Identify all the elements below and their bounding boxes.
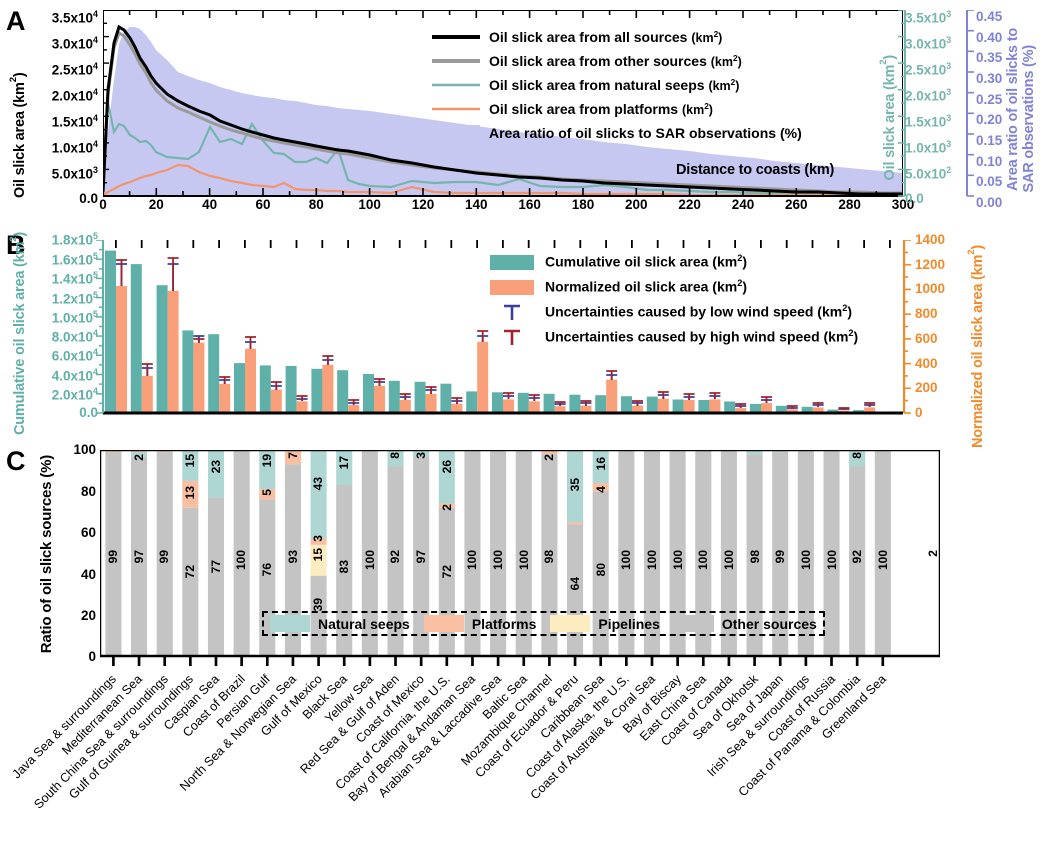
legend-item-cumulative[interactable]: Cumulative oil slick area (km2) <box>488 249 858 274</box>
category-label-14: Bay of Bengal & Andaman Sea <box>346 672 478 804</box>
category-label-1: Mediterranean Sea <box>59 672 145 758</box>
legend-item-high-wind[interactable]: Uncertainties caused by high wind speed … <box>488 324 858 349</box>
panel-c-bottom-ticks <box>100 656 940 668</box>
category-label-28: Coast of Russia <box>765 672 838 745</box>
legend-item-all-sources[interactable]: Oil slick area from all sources (km2) <box>430 25 802 49</box>
other-sources-swatch-icon <box>674 615 714 632</box>
category-label-10: Yellow Sea <box>322 672 376 726</box>
panel-a-right-axis-2 <box>966 10 976 200</box>
panel-a-xlabel: Distance to coasts (km) <box>676 162 834 178</box>
panel-b-right-axis <box>903 240 913 425</box>
category-label-17: Mozambique Channel <box>459 672 556 769</box>
legend-platforms-label[interactable]: Platforms <box>472 616 537 632</box>
panel-a-ylabel-left: Oil slick area (km2) <box>8 28 28 198</box>
legend-item-normalized[interactable]: Normalized oil slick area (km2) <box>488 274 858 299</box>
category-label-23: East China Sea <box>637 672 709 744</box>
legend-pipelines-label[interactable]: Pipelines <box>598 616 659 632</box>
panel-c-legend: Natural seeps Platforms Pipelines Other … <box>262 611 825 636</box>
category-label-9: Black Sea <box>300 672 350 722</box>
category-label-18: Coast of Ecuador & Peru <box>473 672 581 780</box>
pipelines-swatch-icon <box>550 615 590 632</box>
category-label-30: Greenland Sea <box>819 672 889 742</box>
all-sources-line-icon <box>430 27 482 47</box>
panel-c-label: C <box>6 448 26 475</box>
panel-b-left-axis <box>95 240 105 425</box>
category-label-5: Coast of Brazil <box>180 672 248 740</box>
panel-b-left-ticks: 1.8x105 1.6x105 1.4x105 1.2x105 1.0x105 … <box>30 232 100 422</box>
panel-a-ylabel-right-2b: SAR observations (%) <box>1021 45 1037 192</box>
category-label-7: North Sea & Norwegian Sea <box>177 672 299 794</box>
category-label-27: Irish Sea & surroundings <box>704 672 811 779</box>
category-label-22: Bay of Biscay <box>620 672 684 736</box>
panel-c-ylabel: Ratio of oil slick sources (%) <box>38 455 55 653</box>
category-label-0: Java Sea & surroundings <box>10 672 119 781</box>
panel-b-ylabel-right: Normalized oil slick area (km2) <box>966 245 986 448</box>
natural-seeps-line-icon <box>430 75 482 95</box>
category-label-19: Caribbean Sea <box>537 672 606 741</box>
category-label-16: Baltic Sea <box>480 672 530 722</box>
category-label-3: Gulf of Guinea & surroundings <box>67 672 197 802</box>
category-label-6: Persian Gulf <box>214 672 273 731</box>
category-label-4: Caspian Sea <box>161 672 222 733</box>
category-label-2: South China Sea & surroundings <box>31 672 171 812</box>
category-label-15: Arabian Sea & Laccadive Sea <box>376 672 504 800</box>
category-label-25: Sea of Okhotsk <box>690 672 761 743</box>
panel-b-legend: Cumulative oil slick area (km2) Normaliz… <box>488 249 858 349</box>
category-label-8: Gulf of Mexico <box>258 672 325 739</box>
category-label-13: Coast of California, the U.S. <box>332 672 452 792</box>
cumulative-swatch-icon <box>488 252 536 272</box>
area-ratio-swatch-icon <box>430 123 482 143</box>
panel-a-xticks: 0 20 40 60 80 100 120 140 160 180 200 22… <box>103 197 903 217</box>
natural-seeps-swatch-icon <box>270 615 310 632</box>
category-label-20: Coast of Alaska, the U.S. <box>523 672 632 781</box>
low-wind-errorbar-icon <box>488 302 536 322</box>
category-label-21: Coast of Australia & Coral Sea <box>528 672 658 802</box>
legend-item-other-sources[interactable]: Oil slick area from other sources (km2) <box>430 49 802 73</box>
category-label-24: Coast of Canada <box>658 672 735 749</box>
platforms-swatch-icon <box>424 615 464 632</box>
high-wind-errorbar-icon <box>488 327 536 347</box>
panel-a-right-ticks-1: 3.5x103 3.0x103 2.5x103 2.0x103 1.5x103 … <box>905 10 971 200</box>
panel-a-ylabel-right-1: Oil slick area (km2) <box>878 55 898 180</box>
panel-a-ylabel-right-2a: Area ratio of oil slicks to <box>1005 28 1021 191</box>
category-label-26: Sea of Japan <box>724 672 786 734</box>
legend-item-area-ratio[interactable]: Area ratio of oil slicks to SAR observat… <box>430 121 802 145</box>
category-label-11: Red Sea & Gulf of Aden <box>297 672 401 776</box>
legend-natural-seeps-label[interactable]: Natural seeps <box>318 616 410 632</box>
legend-item-natural-seeps[interactable]: Oil slick area from natural seeps (km2) <box>430 73 802 97</box>
panel-a-legend: Oil slick area from all sources (km2) Oi… <box>430 25 802 145</box>
panel-b-right-ticks: 1400 1200 1000 800 600 400 200 0 <box>915 240 961 425</box>
legend-area-ratio-label: Area ratio of oil slicks to SAR observat… <box>489 125 802 141</box>
normalized-swatch-icon <box>488 277 536 297</box>
legend-item-low-wind[interactable]: Uncertainties caused by low wind speed (… <box>488 299 858 324</box>
platforms-line-icon <box>430 99 482 119</box>
legend-other-sources-label[interactable]: Other sources <box>722 616 817 632</box>
panel-a-left-ticks: 3.5x104 3.0x104 2.5x104 2.0x104 1.5x104 … <box>30 10 100 200</box>
category-label-12: Coast of Mexico <box>353 672 427 746</box>
panel-c-yticks: 100 80 60 40 20 0 <box>56 443 96 673</box>
legend-item-platforms[interactable]: Oil slick area from platforms (km2) <box>430 97 802 121</box>
other-sources-line-icon <box>430 51 482 71</box>
category-label-29: Coast of Panama & Colombia <box>736 672 863 799</box>
panel-b-ylabel-left: Cumulative oil slick area (km2) <box>8 232 28 435</box>
